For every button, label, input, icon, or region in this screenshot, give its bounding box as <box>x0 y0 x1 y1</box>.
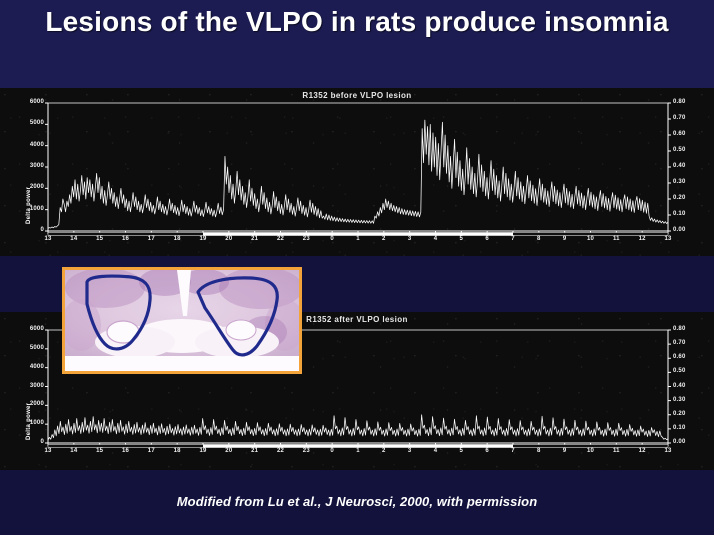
x-tick-label: 11 <box>606 236 626 242</box>
x-tick-label: 14 <box>64 448 84 454</box>
y2-tick-label: 0.40 <box>673 383 703 389</box>
x-tick-label: 4 <box>426 236 446 242</box>
x-tick-label: 8 <box>529 236 549 242</box>
x-tick-label: 10 <box>581 236 601 242</box>
y2-tick-label: 0.00 <box>673 227 703 233</box>
x-tick-label: 20 <box>219 236 239 242</box>
y-tick-label: 3000 <box>8 383 44 389</box>
x-tick-label: 1 <box>348 236 368 242</box>
y-tick-label: 6000 <box>8 326 44 332</box>
y2-tick-label: 0.50 <box>673 368 703 374</box>
x-tick-label: 16 <box>116 448 136 454</box>
x-tick-label: 10 <box>581 448 601 454</box>
y-tick-label: 1000 <box>8 420 44 426</box>
source-caption: Modified from Lu et al., J Neurosci, 200… <box>0 494 714 509</box>
title-band: Lesions of the VLPO in rats produce inso… <box>0 0 714 88</box>
y-tick-label: 6000 <box>8 99 44 105</box>
x-tick-label: 9 <box>555 448 575 454</box>
x-tick-label: 7 <box>503 236 523 242</box>
x-tick-label: 21 <box>245 448 265 454</box>
x-tick-label: 9 <box>555 236 575 242</box>
x-tick-label: 20 <box>219 448 239 454</box>
x-tick-label: 13 <box>38 448 58 454</box>
y2-tick-label: 0.00 <box>673 439 703 445</box>
x-tick-label: 13 <box>658 236 678 242</box>
y-tick-label: 0 <box>8 439 44 445</box>
x-tick-label: 22 <box>271 448 291 454</box>
x-tick-label: 0 <box>322 236 342 242</box>
x-tick-label: 6 <box>477 448 497 454</box>
x-tick-label: 11 <box>606 448 626 454</box>
y-tick-label: 4000 <box>8 142 44 148</box>
y2-tick-label: 0.30 <box>673 179 703 185</box>
y2-tick-label: 0.50 <box>673 147 703 153</box>
slide-title: Lesions of the VLPO in rats produce inso… <box>0 4 714 40</box>
x-tick-label: 16 <box>116 236 136 242</box>
y-tick-label: 5000 <box>8 120 44 126</box>
brain-section-image <box>65 270 299 371</box>
histology-inset <box>62 267 302 374</box>
x-tick-label: 17 <box>141 448 161 454</box>
y2-tick-label: 0.80 <box>673 99 703 105</box>
x-tick-label: 17 <box>141 236 161 242</box>
x-tick-label: 8 <box>529 448 549 454</box>
y2-tick-label: 0.70 <box>673 115 703 121</box>
y-tick-label: 5000 <box>8 345 44 351</box>
y-tick-label: 1000 <box>8 206 44 212</box>
x-tick-label: 19 <box>193 448 213 454</box>
x-tick-label: 13 <box>658 448 678 454</box>
y2-tick-label: 0.10 <box>673 425 703 431</box>
y2-tick-label: 0.80 <box>673 326 703 332</box>
chart-before-lesion: R1352 before VLPO lesion Delta power 010… <box>0 88 714 256</box>
x-tick-label: 22 <box>271 236 291 242</box>
y2-tick-label: 0.70 <box>673 340 703 346</box>
y-tick-label: 2000 <box>8 184 44 190</box>
x-tick-label: 0 <box>322 448 342 454</box>
x-tick-label: 6 <box>477 236 497 242</box>
chart-before-plot <box>0 88 714 256</box>
y-tick-label: 2000 <box>8 401 44 407</box>
x-tick-label: 21 <box>245 236 265 242</box>
x-tick-label: 1 <box>348 448 368 454</box>
x-tick-label: 5 <box>451 236 471 242</box>
y-tick-label: 3000 <box>8 163 44 169</box>
x-tick-label: 14 <box>64 236 84 242</box>
y2-tick-label: 0.20 <box>673 411 703 417</box>
x-tick-label: 12 <box>632 236 652 242</box>
x-tick-label: 2 <box>374 448 394 454</box>
x-tick-label: 23 <box>296 236 316 242</box>
x-tick-label: 23 <box>296 448 316 454</box>
y2-tick-label: 0.40 <box>673 163 703 169</box>
y-tick-label: 0 <box>8 227 44 233</box>
x-tick-label: 4 <box>426 448 446 454</box>
x-tick-label: 15 <box>90 236 110 242</box>
x-tick-label: 18 <box>167 236 187 242</box>
slide: Lesions of the VLPO in rats produce inso… <box>0 0 714 535</box>
y2-tick-label: 0.10 <box>673 211 703 217</box>
x-tick-label: 5 <box>451 448 471 454</box>
x-tick-label: 19 <box>193 236 213 242</box>
x-tick-label: 7 <box>503 448 523 454</box>
y2-tick-label: 0.30 <box>673 397 703 403</box>
x-tick-label: 3 <box>400 448 420 454</box>
y2-tick-label: 0.60 <box>673 131 703 137</box>
x-tick-label: 3 <box>400 236 420 242</box>
y2-tick-label: 0.60 <box>673 354 703 360</box>
x-tick-label: 18 <box>167 448 187 454</box>
x-tick-label: 15 <box>90 448 110 454</box>
x-tick-label: 13 <box>38 236 58 242</box>
y-tick-label: 4000 <box>8 364 44 370</box>
x-tick-label: 12 <box>632 448 652 454</box>
x-tick-label: 2 <box>374 236 394 242</box>
y2-tick-label: 0.20 <box>673 195 703 201</box>
